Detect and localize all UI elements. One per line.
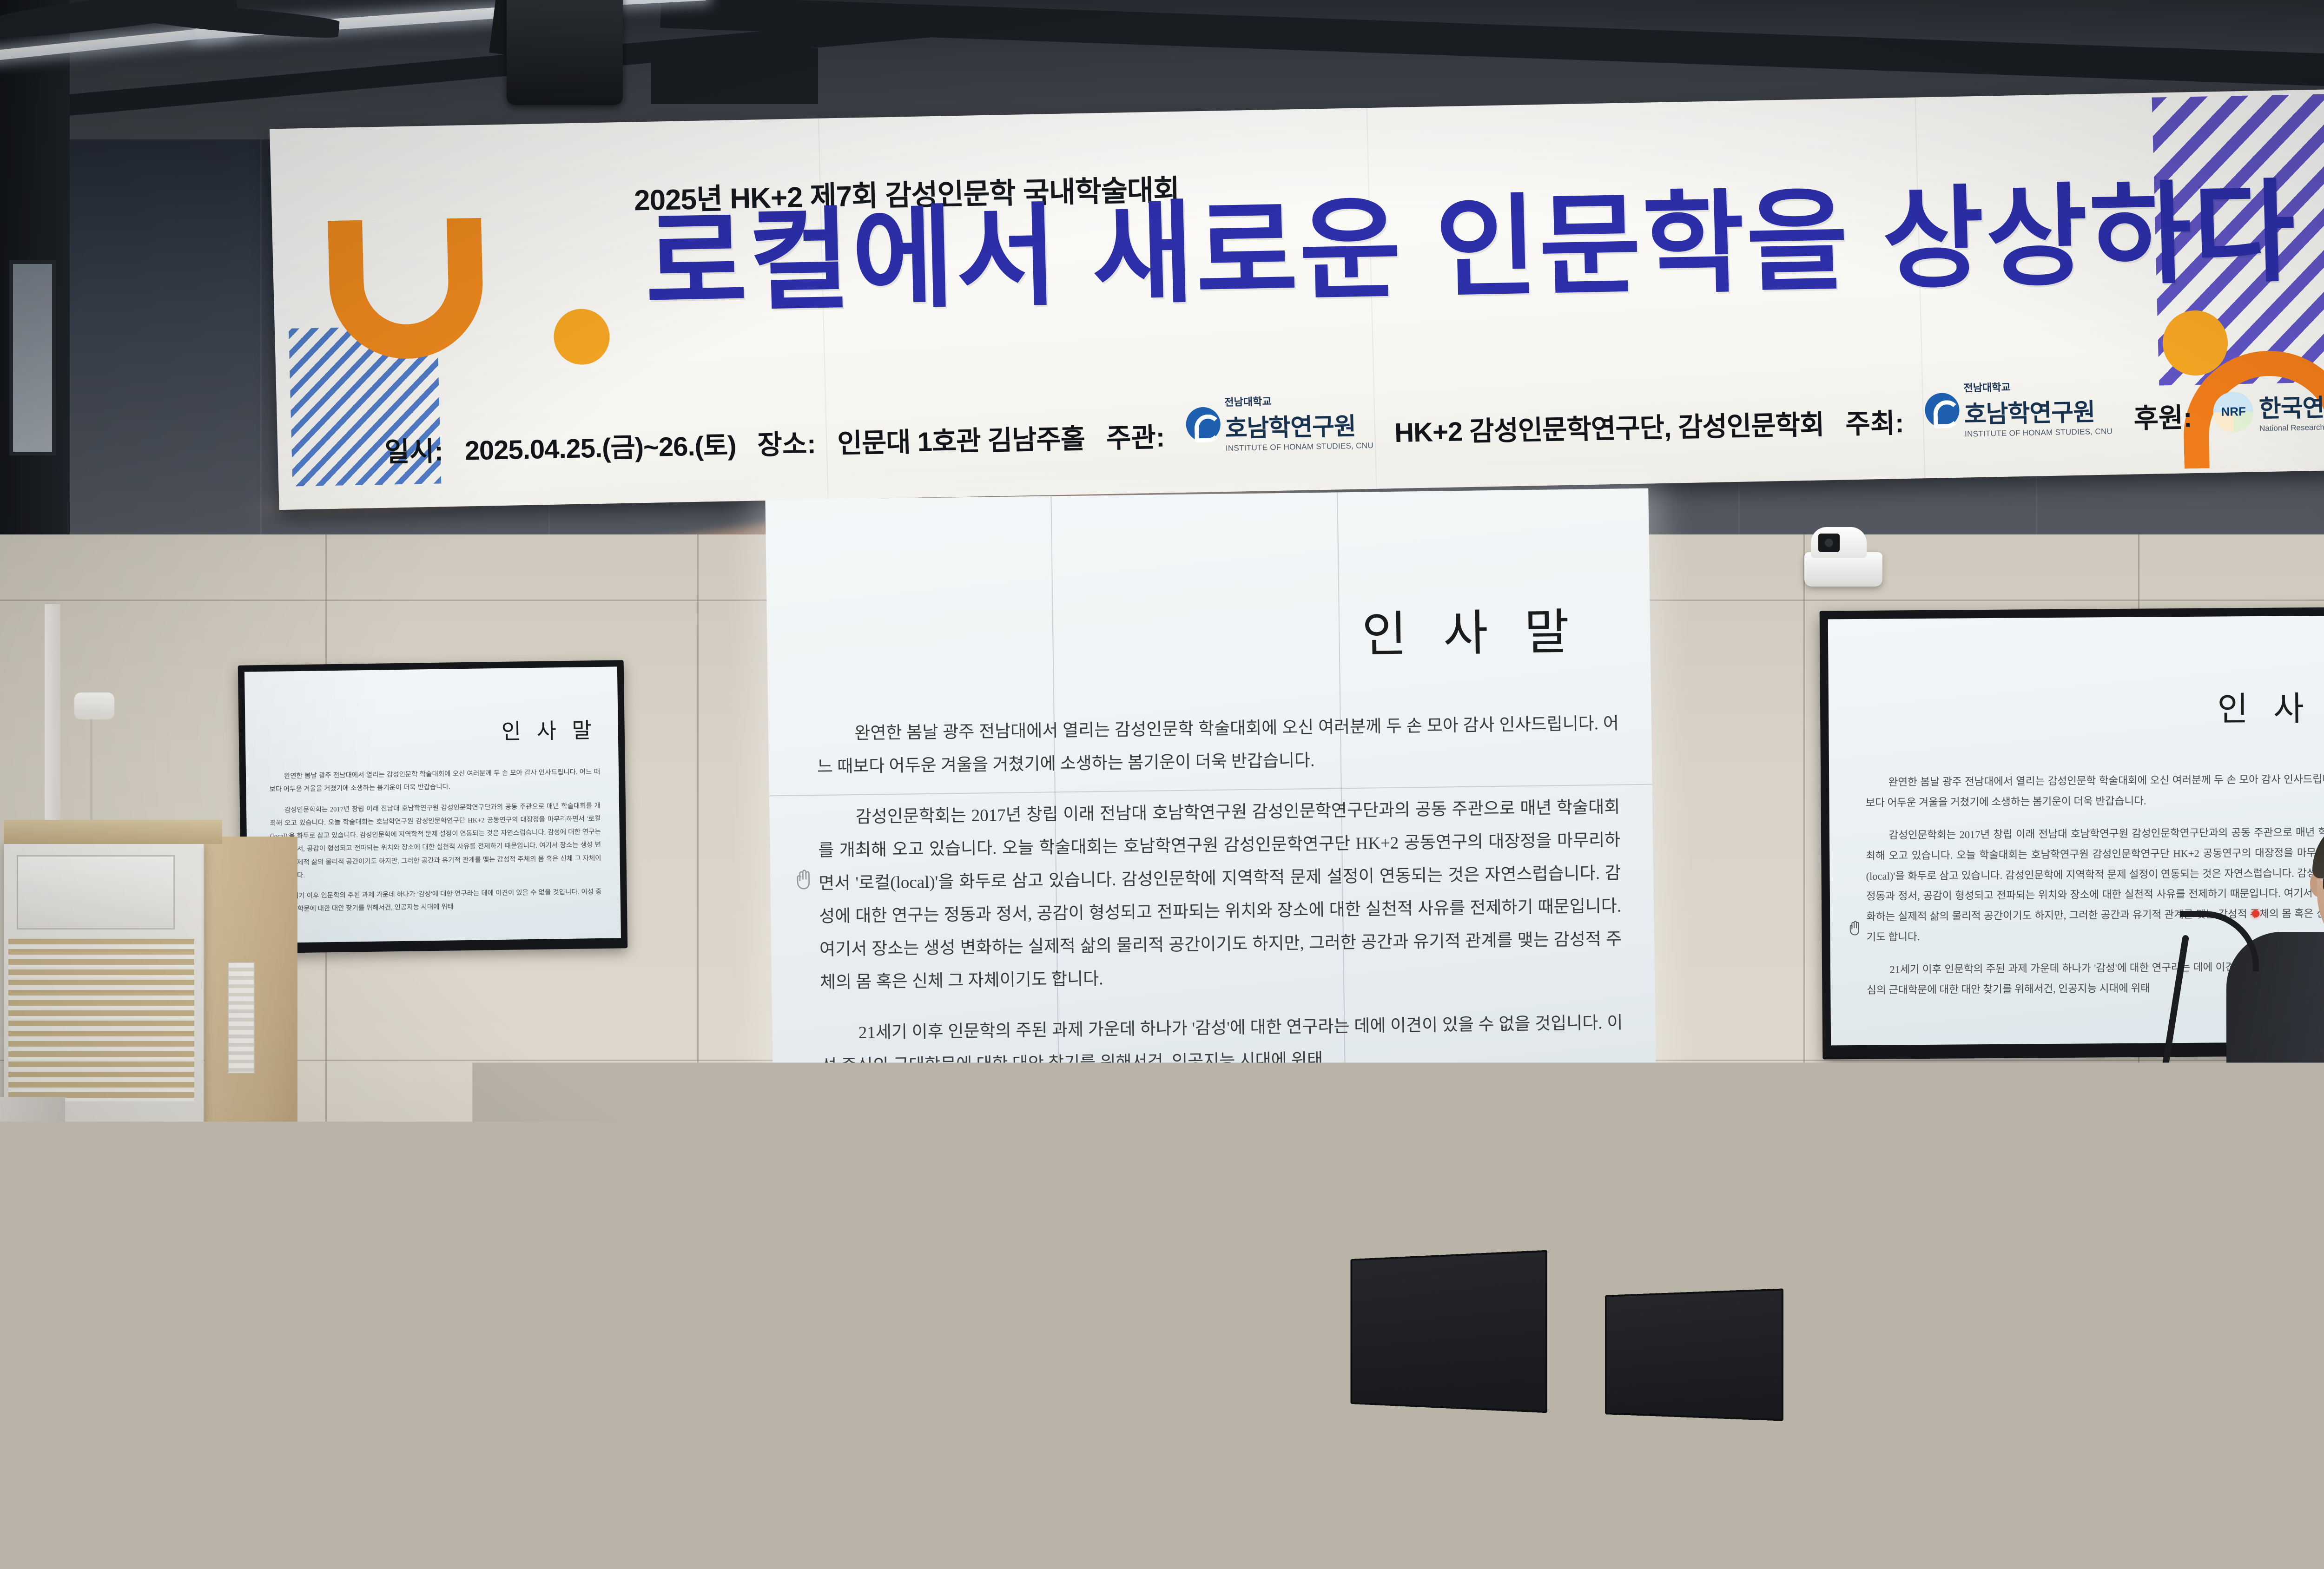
right-monitor-hand-cursor-icon (1848, 920, 1862, 936)
utility-pole-graphic (2264, 1290, 2267, 1392)
left-monitor-paragraph: 감성인문학회는 2017년 창립 이래 전남대 호남학연구원 감성인문학연구단과… (270, 799, 601, 883)
slide-paragraph: 완연한 봄날 광주 전남대에서 열리는 감성인문학 학술대회에 오신 여러분께 … (817, 707, 1620, 784)
audience-person (995, 1413, 1195, 1569)
document-stack (1697, 1526, 1855, 1548)
main-projection-screen: 인 사 말 완연한 봄날 광주 전남대에서 열리는 감성인문학 학술대회에 오신… (765, 488, 1656, 1114)
left-monitor-paragraph: 21세기 이후 인문학의 주된 과제 가운데 하나가 '감성'에 대한 연구라는… (271, 885, 602, 916)
banner-place-label: 장소: (757, 422, 816, 462)
organizer-logo-main: 호남학연구원 (1964, 392, 2113, 429)
right-monitor-paragraph: 완연한 봄날 광주 전남대에서 열리는 감성인문학 학술대회에 오신 여러분께 … (1865, 769, 2324, 813)
ceiling-beam (651, 48, 818, 104)
air-conditioner-display-panel (17, 855, 175, 930)
audience-table (572, 1313, 1074, 1343)
document-stack (1748, 1417, 1836, 1437)
left-monitor-paragraph: 완연한 봄날 광주 전남대에서 열리는 감성인문학 학술대회에 오신 여러분께 … (269, 765, 601, 796)
left-monitor-slide-body: 완연한 봄날 광주 전남대에서 열리는 감성인문학 학술대회에 오신 여러분께 … (269, 765, 602, 916)
cup-lid (2106, 1385, 2162, 1404)
ceiling-speaker (507, 0, 623, 105)
nrf-logo-main: 한국연구재단 (2258, 387, 2324, 424)
slide-paragraph: 감성인문학회는 2017년 창립 이래 전남대 호남학연구원 감성인문학연구단과… (818, 791, 1622, 1000)
right-monitor-paragraph: 감성인문학회는 2017년 창립 이래 전남대 호남학연구원 감성인문학연구단과… (1866, 822, 2324, 948)
audience-person (1803, 1190, 2045, 1569)
reading-papers (26, 1505, 148, 1537)
audience-chair[interactable] (251, 1348, 372, 1510)
audience-chair[interactable] (465, 1352, 600, 1524)
conference-hall-scene: 2025년 HK+2 제7회 감성인문학 국내학술대회 로컬에서 새로운 인문학… (0, 0, 2324, 1569)
banner-place-value: 인문대 1호관 김남주홀 (837, 417, 1085, 461)
slide-body: 완연한 봄날 광주 전남대에서 열리는 감성인문학 학술대회에 오신 여러분께 … (817, 707, 1624, 1101)
paper-cup (2110, 1399, 2159, 1445)
honam-logo-main: 호남학연구원 (1225, 406, 1373, 444)
organizer-logo: 전남대학교 호남학연구원 INSTITUTE OF HONAM STUDIES,… (1924, 377, 2113, 440)
water-bottle (2036, 1464, 2079, 1569)
air-conditioner-vent-upper (8, 939, 194, 1101)
banner-title: 로컬에서 새로운 인문학을 상상하다 (644, 178, 2298, 320)
banner-host-value: HK+2 감성인문학연구단, 감성인문학회 (1394, 402, 1824, 450)
nameplate-text: 정병중 (2261, 1091, 2321, 1120)
audience-person (1404, 1227, 1776, 1569)
person-glasses-icon (79, 1272, 172, 1310)
side-door[interactable] (205, 837, 297, 1325)
paper-cup (64, 1431, 111, 1477)
left-monitor-slide-title: 인 사 말 (501, 713, 597, 745)
right-monitor-slide-title: 인 사 말 (2217, 680, 2324, 730)
banner-dot-decor (553, 308, 610, 365)
slide-title: 인 사 말 (1361, 593, 1582, 666)
banner-host-label: 주관: (1106, 415, 1165, 455)
wall-pillar (45, 604, 60, 850)
audience-chair[interactable] (1236, 1385, 1376, 1562)
nrf-logo: 한국연구재단 National Research Foundation of K… (2213, 387, 2324, 435)
wall-sensor-icon (74, 692, 114, 719)
door-vent-grille (228, 962, 255, 1074)
podium-display-person-illustration (2290, 1355, 2324, 1471)
honam-institute-logo: 전남대학교 호남학연구원 INSTITUTE OF HONAM STUDIES,… (1185, 391, 1373, 454)
paper-cup (2087, 1469, 2143, 1524)
banner-sponsor-label: 후원: (2133, 396, 2192, 435)
cup-lid (60, 1414, 114, 1435)
honam-logo-icon (1186, 407, 1221, 442)
person-head (1009, 1413, 1162, 1569)
wall-seam (697, 534, 699, 1320)
organizer-logo-icon (1925, 392, 1960, 427)
smartphone[interactable] (1877, 1527, 1972, 1569)
curtain-fold (260, 70, 262, 562)
banner-footer: 일시: 2025.04.25.(금)~26.(토) 장소: 인문대 1호관 김남… (383, 372, 2324, 469)
left-window (9, 260, 56, 455)
person-head (1487, 1227, 1673, 1427)
microphone-status-led (2252, 910, 2259, 917)
slide-paragraph: 21세기 이후 인문학의 주된 과제 가운데 하나가 '감성'에 대한 연구라는… (820, 1007, 1624, 1083)
left-monitor-screen: 인 사 말 완연한 봄날 광주 전남대에서 열리는 감성인문학 학술대회에 오신… (244, 666, 621, 943)
banner-organizer-label: 주최: (1845, 401, 1904, 441)
hand-cursor-icon (794, 869, 813, 890)
air-conditioner-top-trim (4, 820, 222, 844)
nrf-logo-icon (2213, 391, 2254, 432)
event-banner: 2025년 HK+2 제7회 감성인문학 국내학술대회 로컬에서 새로운 인문학… (270, 87, 2324, 510)
cup-lid (2083, 1453, 2146, 1473)
speaker-glasses-icon (2322, 874, 2324, 892)
table-leg (614, 1339, 620, 1442)
audience-chair[interactable] (725, 1366, 860, 1538)
banner-date-label: 일시: (384, 429, 444, 469)
speaker-nameplate: 정병중 (2238, 1086, 2324, 1126)
camera-lens-icon (1818, 534, 1840, 552)
banner-date-value: 2025.04.25.(금)~26.(토) (464, 423, 737, 468)
